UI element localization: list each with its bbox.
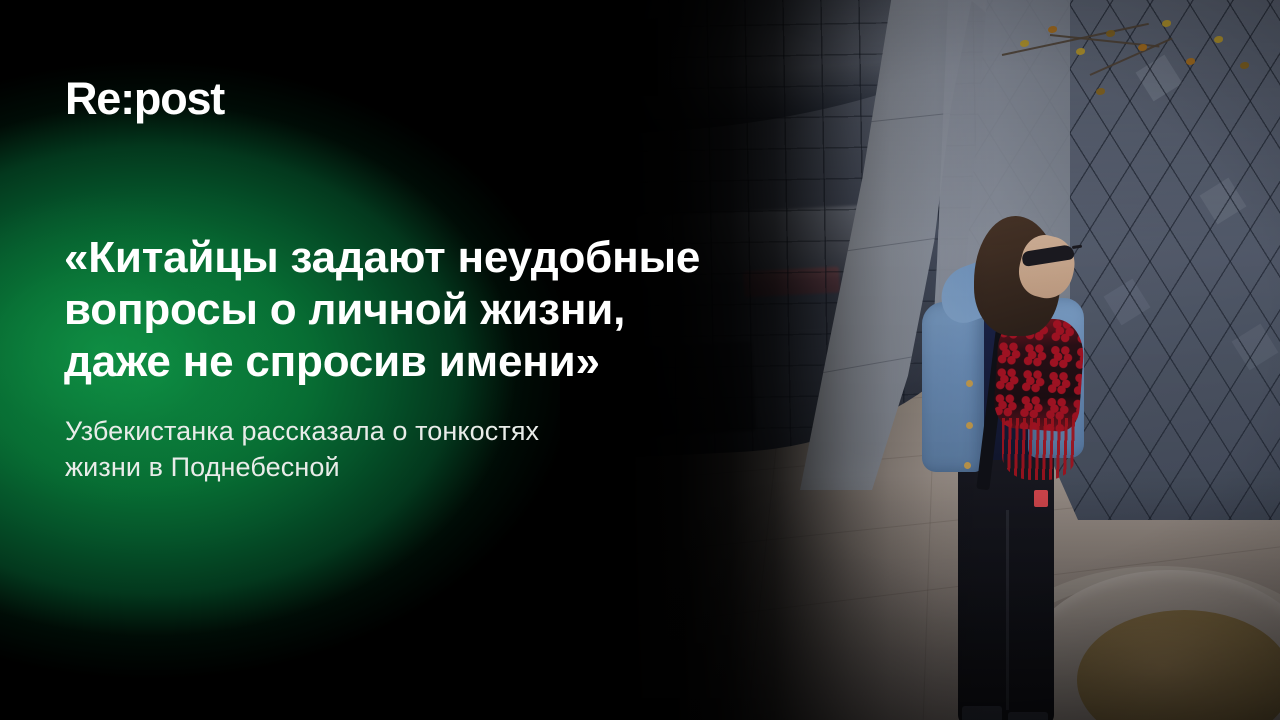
subtitle-line-1: Узбекистанка рассказала о тонкостях [65, 413, 765, 449]
article-subtitle: Узбекистанка рассказала о тонкостях жизн… [65, 413, 765, 485]
headline-line-2: вопросы о личной жизни, [64, 284, 804, 336]
brand-logo[interactable]: Re:post [65, 76, 224, 121]
subtitle-line-2: жизни в Поднебесной [65, 449, 765, 485]
headline-line-3: даже не спросив имени» [64, 336, 804, 388]
headline-line-1: «Китайцы задают неудобные [64, 232, 804, 284]
article-headline: «Китайцы задают неудобные вопросы о личн… [64, 232, 804, 388]
text-content-layer: Re:post «Китайцы задают неудобные вопрос… [0, 0, 1280, 720]
article-cover-banner: Re:post «Китайцы задают неудобные вопрос… [0, 0, 1280, 720]
